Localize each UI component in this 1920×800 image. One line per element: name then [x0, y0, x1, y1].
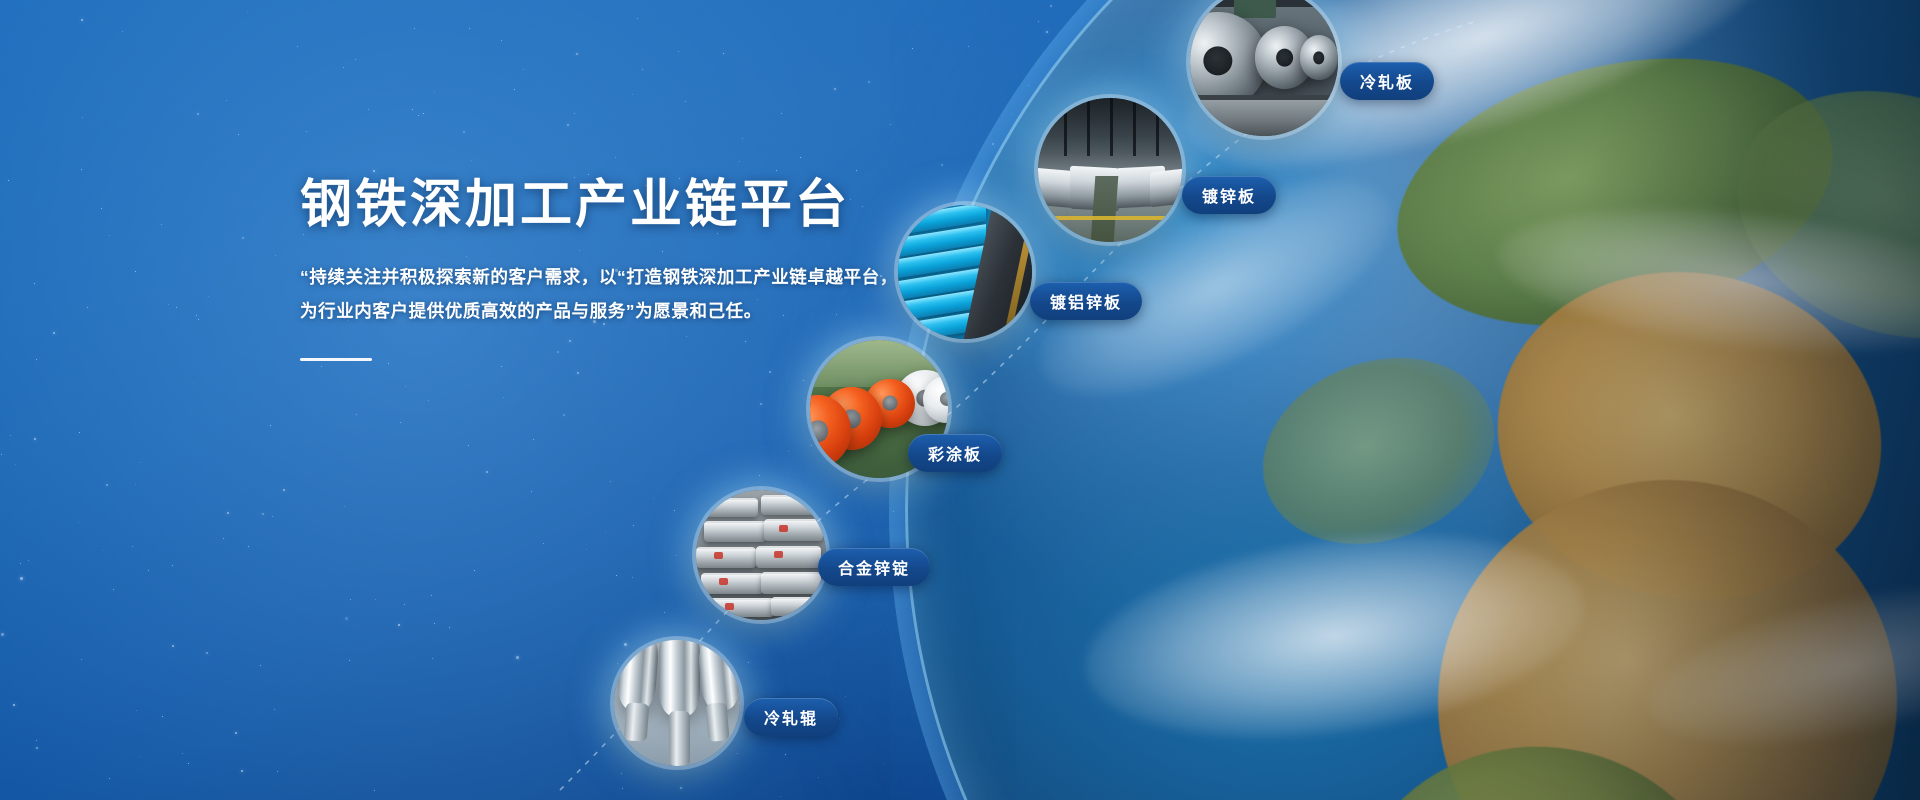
hero-copy-block: 钢铁深加工产业链平台 “持续关注并积极探索新的客户需求，以“打造钢铁深加工产业链…: [300, 176, 940, 361]
product-label-text: 合金锌锭: [838, 555, 910, 579]
page-title: 钢铁深加工产业链平台: [300, 176, 940, 234]
product-thumb-cold-rolled-sheet[interactable]: [1190, 0, 1338, 136]
hero-banner: 钢铁深加工产业链平台 “持续关注并积极探索新的客户需求，以“打造钢铁深加工产业链…: [0, 0, 1920, 800]
product-label-text: 镀铝锌板: [1050, 289, 1122, 313]
hero-subtitle-line-1: “持续关注并积极探索新的客户需求，以“打造钢铁深加工产业链卓越平台，: [300, 267, 898, 287]
product-label-text: 镀锌板: [1202, 183, 1256, 207]
product-tag-color-coated-sheet[interactable]: 彩涂板: [908, 434, 1002, 472]
product-label-text: 冷轧辊: [764, 705, 818, 729]
product-thumb-galvanized-sheet[interactable]: [1038, 98, 1182, 242]
product-tag-galvanized-sheet[interactable]: 镀锌板: [1182, 176, 1276, 214]
product-tag-cold-rolling-roll[interactable]: 冷轧辊: [744, 698, 838, 736]
title-underline-rule: [300, 358, 372, 361]
product-label-text: 冷轧板: [1360, 69, 1414, 93]
product-thumb-alloy-zinc-ingot[interactable]: [696, 490, 826, 620]
product-tag-alloy-zinc-ingot[interactable]: 合金锌锭: [818, 548, 930, 586]
hero-subtitle-line-2: 为行业内客户提供优质高效的产品与服务”为愿景和己任。: [300, 301, 762, 321]
dotted-connector-arc: [0, 0, 1920, 800]
hero-subtitle: “持续关注并积极探索新的客户需求，以“打造钢铁深加工产业链卓越平台， 为行业内客…: [300, 260, 940, 328]
product-thumb-cold-rolling-roll[interactable]: [614, 640, 740, 766]
product-thumb-galvalume-sheet[interactable]: [898, 205, 1032, 339]
product-tag-galvalume-sheet[interactable]: 镀铝锌板: [1030, 282, 1142, 320]
starfield-decoration: [0, 0, 1920, 800]
product-tag-cold-rolled-sheet[interactable]: 冷轧板: [1340, 62, 1434, 100]
product-label-text: 彩涂板: [928, 441, 982, 465]
